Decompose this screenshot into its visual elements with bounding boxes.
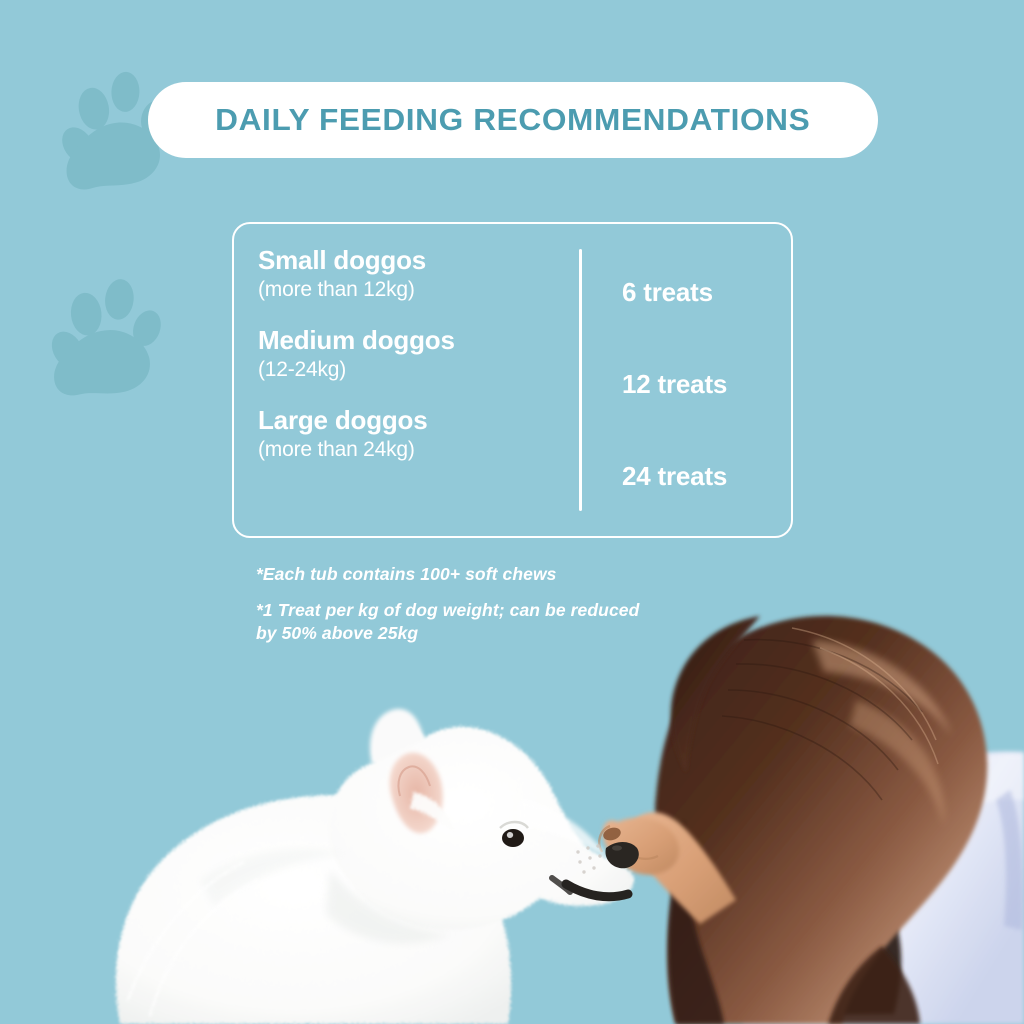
dog-size-label: Small doggos — [258, 246, 578, 276]
footnote-dosage: *1 Treat per kg of dog weight; can be re… — [256, 599, 656, 646]
paw-print-icon-lower — [36, 272, 168, 404]
treat-amount: 12 treats — [622, 370, 727, 400]
treat-amount: 6 treats — [622, 278, 713, 308]
dog-weight-range: (more than 12kg) — [258, 277, 578, 302]
table-row: Small doggos (more than 12kg) — [258, 246, 578, 302]
feeding-table-card: Small doggos (more than 12kg) Medium dog… — [232, 222, 793, 538]
column-divider — [579, 249, 582, 511]
footnote-chew-count: *Each tub contains 100+ soft chews — [256, 563, 656, 587]
page-title: DAILY FEEDING RECOMMENDATIONS — [215, 102, 810, 138]
treat-amount: 24 treats — [622, 462, 727, 492]
footnotes: *Each tub contains 100+ soft chews *1 Tr… — [256, 563, 656, 646]
poster-canvas: DAILY FEEDING RECOMMENDATIONS Small dogg… — [0, 0, 1024, 1024]
woman-figure — [599, 616, 1024, 1024]
dog-weight-range: (12-24kg) — [258, 357, 578, 382]
size-column: Small doggos (more than 12kg) Medium dog… — [258, 246, 578, 462]
dog-weight-range: (more than 24kg) — [258, 437, 578, 462]
table-row: Medium doggos (12-24kg) — [258, 326, 578, 382]
dog-size-label: Large doggos — [258, 406, 578, 436]
page-title-pill: DAILY FEEDING RECOMMENDATIONS — [148, 82, 878, 158]
dog-figure — [116, 709, 639, 1024]
dog-size-label: Medium doggos — [258, 326, 578, 356]
table-row: Large doggos (more than 24kg) — [258, 406, 578, 462]
